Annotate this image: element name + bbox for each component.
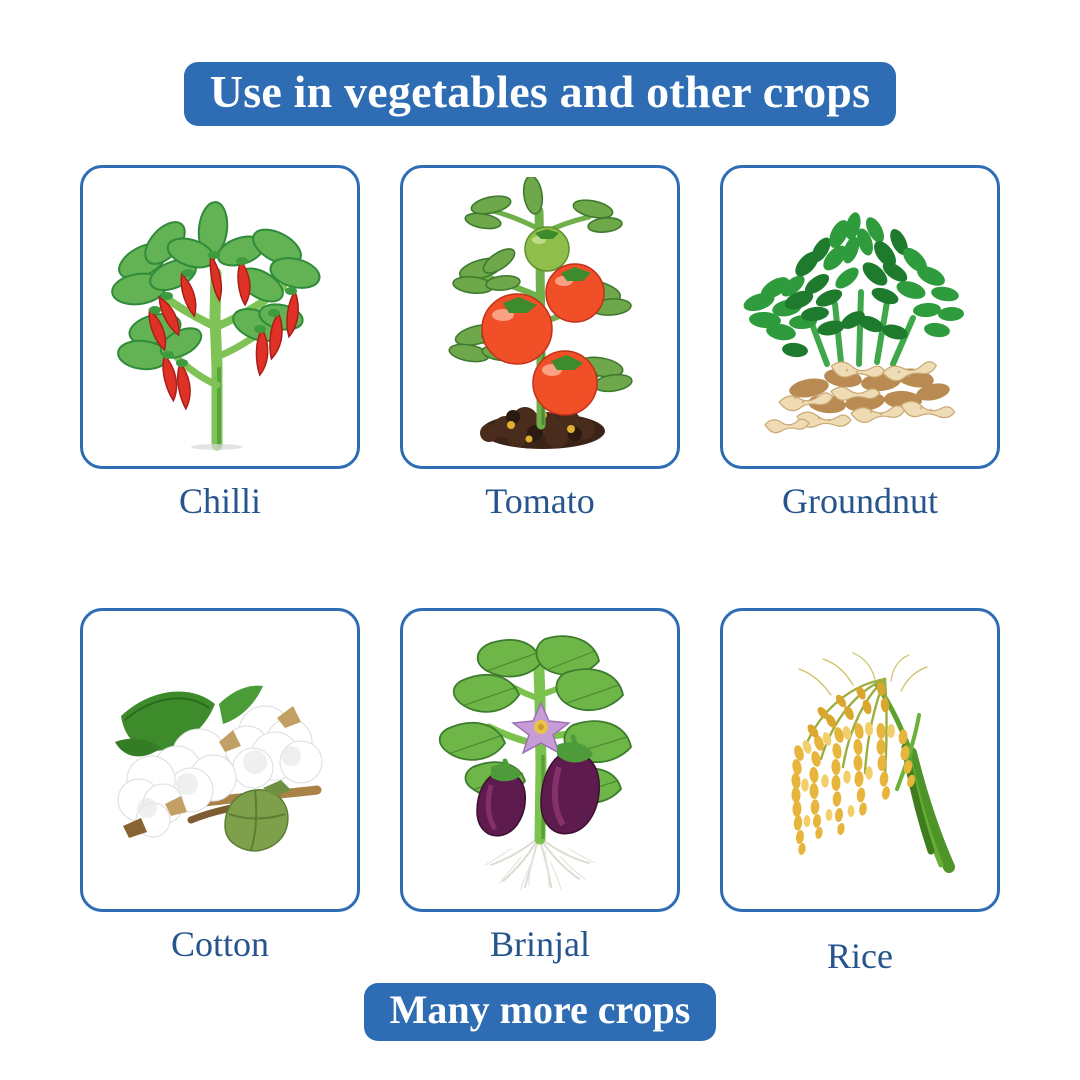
crop-card-tomato[interactable] [400, 165, 680, 469]
crop-cell-groundnut[interactable]: Groundnut [720, 165, 1000, 519]
footer-banner-row: Many more crops [0, 983, 1080, 1041]
header-banner: Use in vegetables and other crops [184, 62, 896, 126]
crop-card-row-2: Cotton [80, 608, 1000, 974]
groundnut-plant-illustration [735, 192, 985, 442]
crop-card-grid: Chilli [80, 165, 1000, 974]
chilli-plant-illustration [95, 177, 345, 457]
crop-label-cotton: Cotton [171, 926, 269, 962]
crop-card-cotton[interactable] [80, 608, 360, 912]
crop-cell-rice[interactable]: Rice [720, 608, 1000, 974]
crop-cell-chilli[interactable]: Chilli [80, 165, 360, 519]
rice-panicle-illustration [735, 635, 985, 885]
crop-label-chilli: Chilli [179, 483, 261, 519]
crop-label-rice: Rice [827, 938, 893, 974]
header-banner-row: Use in vegetables and other crops [0, 0, 1080, 126]
crop-card-brinjal[interactable] [400, 608, 680, 912]
crop-cell-cotton[interactable]: Cotton [80, 608, 360, 974]
tomato-plant-illustration [425, 177, 655, 457]
cotton-bolls-illustration [95, 650, 345, 870]
crop-card-row-1: Chilli [80, 165, 1000, 519]
crop-label-brinjal: Brinjal [490, 926, 590, 962]
crop-label-tomato: Tomato [485, 483, 594, 519]
crop-cell-tomato[interactable]: Tomato [400, 165, 680, 519]
crop-cell-brinjal[interactable]: Brinjal [400, 608, 680, 974]
footer-banner: Many more crops [364, 983, 717, 1041]
brinjal-plant-illustration [425, 625, 655, 895]
crop-card-groundnut[interactable] [720, 165, 1000, 469]
crop-card-rice[interactable] [720, 608, 1000, 912]
crop-label-groundnut: Groundnut [782, 483, 938, 519]
crop-card-chilli[interactable] [80, 165, 360, 469]
